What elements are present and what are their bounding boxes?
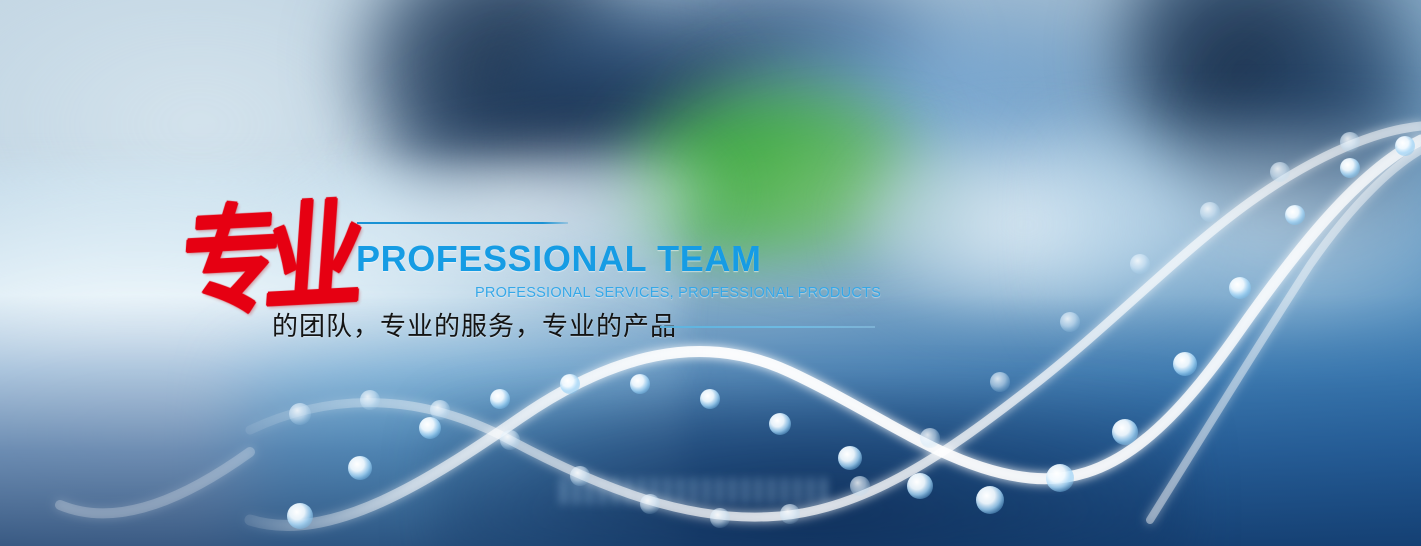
divider-bottom [660, 326, 875, 328]
page-subtitle-chinese: 的团队，专业的服务，专业的产品 [272, 306, 677, 343]
banner-content: 专业 PROFESSIONAL TEAM PROFESSIONAL SERVIC… [0, 0, 1421, 546]
calligraphy-zhuanye: 专业 [173, 198, 345, 384]
page-subtitle-english: PROFESSIONAL SERVICES, PROFESSIONAL PROD… [475, 285, 881, 301]
page-title: PROFESSIONAL TEAM [356, 240, 762, 278]
professional-team-banner: 专业 PROFESSIONAL TEAM PROFESSIONAL SERVIC… [0, 0, 1421, 546]
divider-top [357, 222, 568, 224]
